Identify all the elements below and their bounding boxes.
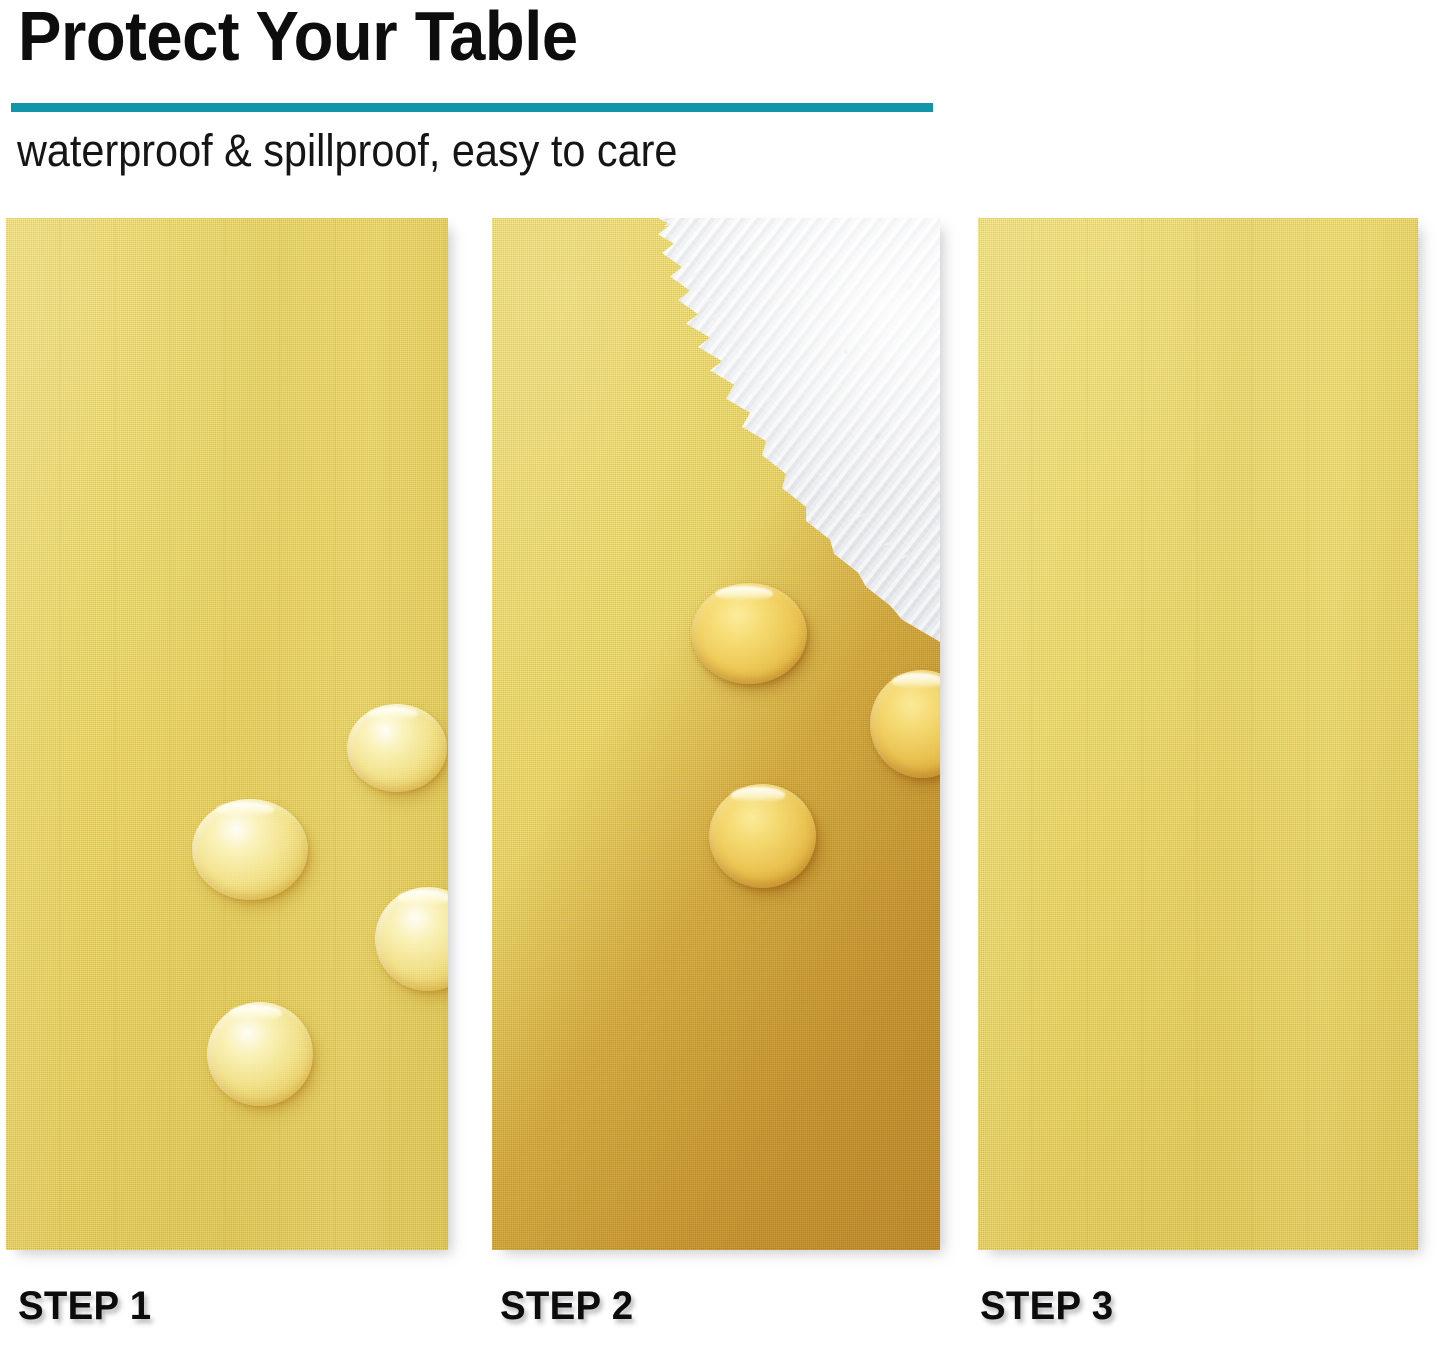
step-label-1: STEP 1 (18, 1286, 151, 1326)
water-droplet (347, 704, 447, 792)
title-divider-rule (11, 103, 933, 112)
water-droplet (691, 583, 807, 684)
fabric-surface-panel-3 (978, 218, 1418, 1250)
water-droplet (207, 1002, 313, 1106)
water-droplet (709, 784, 816, 888)
step-panel-1 (6, 218, 448, 1250)
step-label-3: STEP 3 (980, 1286, 1113, 1326)
step-label-2: STEP 2 (500, 1286, 633, 1326)
step-panel-2 (492, 218, 940, 1250)
step-panel-3 (978, 218, 1418, 1250)
water-droplet (192, 799, 308, 900)
page-subtitle: waterproof & spillproof, easy to care (17, 124, 677, 178)
header-block: Protect Your Table waterproof & spillpro… (0, 0, 1445, 200)
page-title: Protect Your Table (18, 0, 578, 77)
